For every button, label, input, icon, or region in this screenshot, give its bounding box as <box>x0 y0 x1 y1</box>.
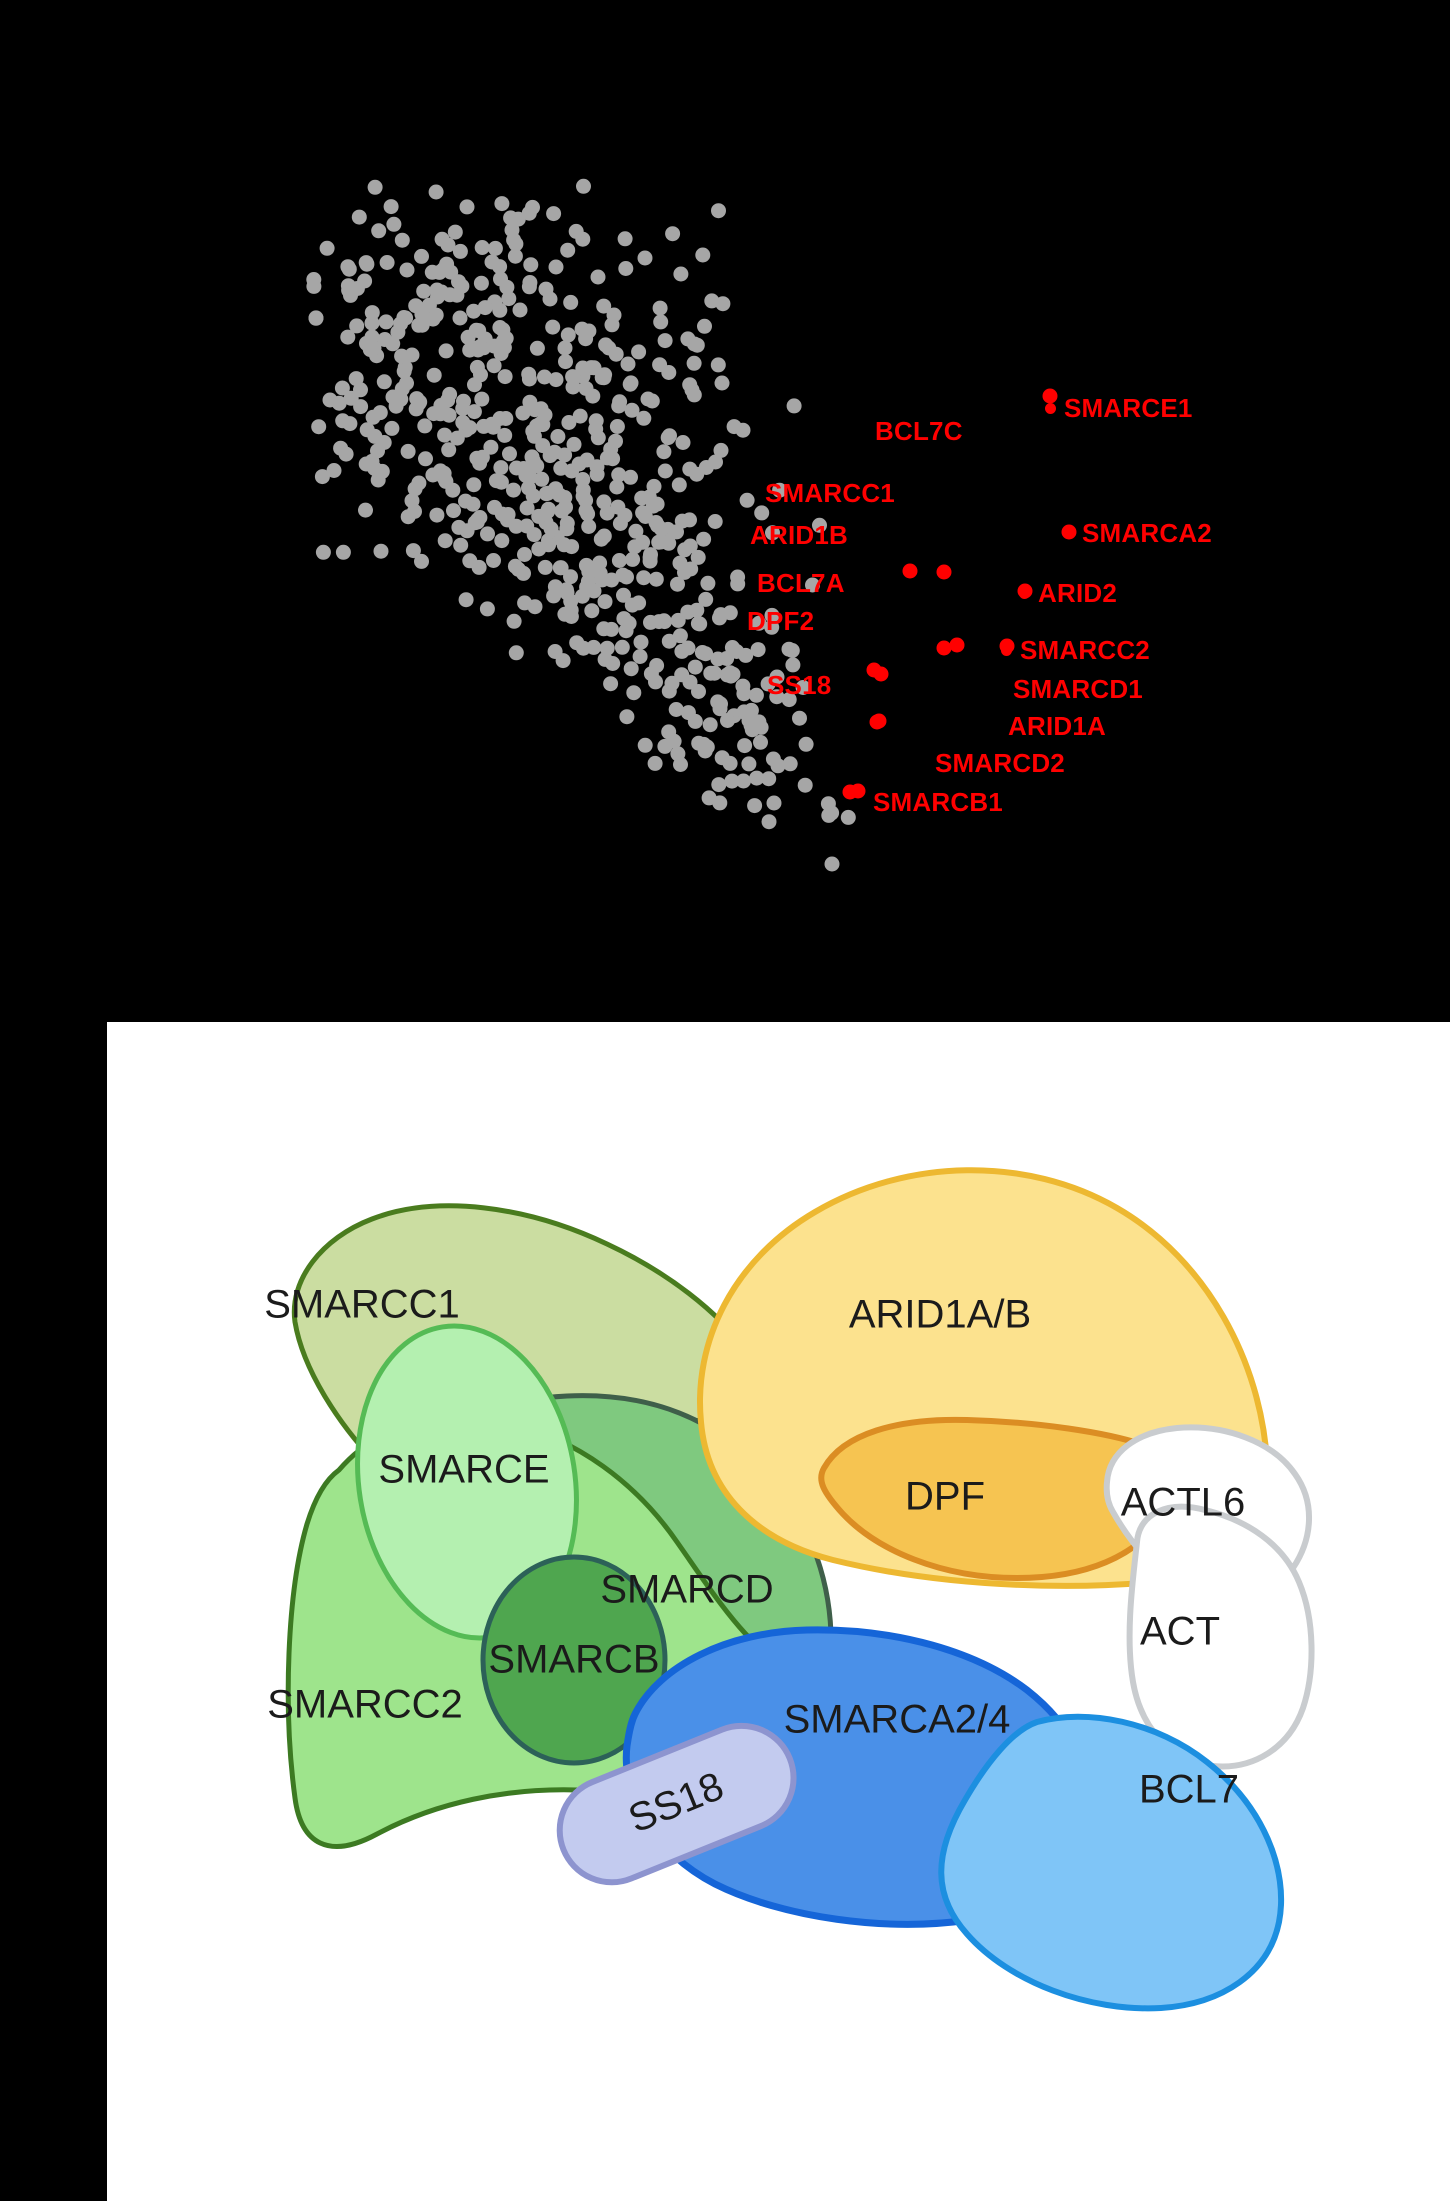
scatter-point <box>607 308 622 323</box>
scatter-point <box>597 370 612 385</box>
scatter-point <box>558 354 573 369</box>
scatter-point <box>598 337 613 352</box>
scatter-label-smarcd1: SMARCD1 <box>1013 676 1143 702</box>
scatter-point <box>625 552 640 567</box>
subunit-label-actl6: ACTL6 <box>1121 1481 1246 1525</box>
scatter-point <box>466 477 481 492</box>
scatter-point <box>316 545 331 560</box>
scatter-point <box>735 679 750 694</box>
scatter-label-text: BCL7A <box>757 568 845 598</box>
scatter-point <box>799 737 814 752</box>
scatter-point <box>333 441 348 456</box>
scatter-point <box>596 529 611 544</box>
scatter-point <box>626 685 641 700</box>
scatter-label-dot-icon <box>1001 645 1012 656</box>
baf-complex-svg: SMARCC1 SMARCE SMARCD SMARCC2 SMARCB ARI… <box>107 1022 1450 2201</box>
scatter-point <box>563 594 578 609</box>
scatter-point <box>474 276 489 291</box>
scatter-point <box>522 275 537 290</box>
scatter-point <box>495 507 510 522</box>
scatter-point <box>683 675 698 690</box>
scatter-point <box>497 428 512 443</box>
scatter-point <box>654 522 669 537</box>
scatter-point <box>707 666 722 681</box>
scatter-point <box>767 796 782 811</box>
scatter-point <box>563 569 578 584</box>
scatter-point <box>711 777 726 792</box>
scatter-point <box>414 554 429 569</box>
scatter-point <box>530 341 545 356</box>
scatter-point <box>610 500 625 515</box>
scatter-point <box>695 248 710 263</box>
scatter-point <box>408 298 423 313</box>
scatter-point <box>459 592 474 607</box>
scatter-point <box>513 303 528 318</box>
scatter-point <box>754 720 769 735</box>
scatter-point <box>429 185 444 200</box>
scatter-point <box>437 428 452 443</box>
scatter-point <box>341 278 356 293</box>
scatter-point <box>560 243 575 258</box>
scatter-point <box>352 210 367 225</box>
subunit-label-smarcc2: SMARCC2 <box>267 1683 463 1727</box>
scatter-point <box>400 263 415 278</box>
scatter-point <box>528 599 543 614</box>
scatter-point <box>720 713 735 728</box>
scatter-point <box>715 376 730 391</box>
scatter-point <box>638 509 653 524</box>
scatter-point <box>529 458 544 473</box>
scatter-point <box>711 203 726 218</box>
scatter-point <box>580 453 595 468</box>
scatter-point <box>798 778 813 793</box>
subunit-label-smarce: SMARCE <box>378 1448 549 1492</box>
scatter-point <box>558 500 573 515</box>
scatter-label-arid2: ARID2 <box>1019 580 1117 606</box>
scatter-point <box>674 644 689 659</box>
scatter-point <box>493 460 508 475</box>
scatter-point <box>522 206 537 221</box>
scatter-point <box>546 206 561 221</box>
scatter-point <box>685 383 700 398</box>
scatter-point <box>543 448 558 463</box>
scatter-point <box>624 661 639 676</box>
scatter-point <box>448 225 463 240</box>
scatter-point <box>556 653 571 668</box>
scatter-point <box>470 513 485 528</box>
scatter-point <box>438 533 453 548</box>
scatter-point <box>576 179 591 194</box>
scatter-point <box>342 262 357 277</box>
subunit-label-act: ACT <box>1140 1610 1220 1654</box>
scatter-point <box>467 404 482 419</box>
scatter-point <box>525 424 540 439</box>
scatter-panel: SMARCE1BCL7CSMARCC1SMARCA2ARID1BARID2BCL… <box>0 0 1450 1022</box>
scatter-point <box>563 295 578 310</box>
scatter-point <box>613 516 628 531</box>
subunit-label-smarcb: SMARCB <box>488 1638 659 1682</box>
scatter-point <box>618 261 633 276</box>
scatter-point <box>494 475 509 490</box>
scatter-highlight-point-smarcc1[interactable] <box>937 565 952 580</box>
scatter-point <box>741 756 756 771</box>
scatter-point <box>662 684 677 699</box>
scatter-point <box>509 645 524 660</box>
scatter-label-text: SMARCA2 <box>1082 518 1212 548</box>
scatter-point <box>575 322 590 337</box>
scatter-point <box>603 676 618 691</box>
scatter-point <box>618 231 633 246</box>
scatter-point <box>787 398 802 413</box>
scatter-point <box>488 241 503 256</box>
scatter-point <box>543 292 558 307</box>
scatter-point <box>689 603 704 618</box>
scatter-label-text: SMARCD1 <box>1013 674 1143 704</box>
scatter-point <box>596 621 611 636</box>
scatter-point <box>471 343 486 358</box>
scatter-point <box>487 358 502 373</box>
scatter-label-smarcc2: SMARCC2 <box>1001 637 1150 663</box>
scatter-point <box>723 669 738 684</box>
scatter-point <box>699 460 714 475</box>
scatter-point <box>493 411 508 426</box>
scatter-point <box>703 717 718 732</box>
scatter-point <box>821 796 836 811</box>
scatter-point <box>561 327 576 342</box>
scatter-point <box>335 413 350 428</box>
scatter-point <box>365 454 380 469</box>
scatter-point <box>407 504 422 519</box>
scatter-point <box>534 472 549 487</box>
scatter-point <box>411 318 426 333</box>
scatter-point <box>418 451 433 466</box>
scatter-point <box>460 199 475 214</box>
scatter-point <box>662 428 677 443</box>
scatter-point <box>474 392 489 407</box>
scatter-point <box>523 257 538 272</box>
scatter-highlight-point-bcl7a[interactable] <box>950 638 965 653</box>
scatter-label-text: DPF2 <box>747 606 814 636</box>
scatter-point <box>446 503 461 518</box>
scatter-label-dot-icon <box>1019 588 1030 599</box>
scatter-point <box>658 464 673 479</box>
scatter-point <box>439 343 454 358</box>
scatter-point <box>825 857 840 872</box>
scatter-highlight-point-arid1a[interactable] <box>870 715 885 730</box>
scatter-point <box>590 467 605 482</box>
scatter-point <box>384 199 399 214</box>
subunit-label-smarca24: SMARCA2/4 <box>784 1698 1011 1742</box>
scatter-point <box>557 537 572 552</box>
scatter-point <box>643 554 658 569</box>
scatter-point <box>454 279 469 294</box>
scatter-point <box>336 545 351 560</box>
scatter-label-arid1b: ARID1B <box>750 522 848 548</box>
scatter-point <box>417 418 432 433</box>
scatter-point <box>569 224 584 239</box>
scatter-point <box>615 640 630 655</box>
scatter-point <box>658 333 673 348</box>
scatter-label-ss18: SS18 <box>767 672 831 698</box>
scatter-point <box>441 238 456 253</box>
scatter-highlight-point-ss18[interactable] <box>867 663 882 678</box>
scatter-point <box>612 553 627 568</box>
scatter-point <box>623 470 638 485</box>
scatter-point <box>631 344 646 359</box>
scatter-point <box>673 267 688 282</box>
scatter-label-dpf2: DPF2 <box>747 608 814 634</box>
scatter-point <box>696 532 711 547</box>
scatter-point <box>688 714 703 729</box>
scatter-point <box>408 481 423 496</box>
scatter-point <box>430 283 445 298</box>
scatter-point <box>651 535 666 550</box>
scatter-point <box>498 369 513 384</box>
scatter-point <box>456 394 471 409</box>
scatter-point <box>652 357 667 372</box>
scatter-point <box>672 477 687 492</box>
scatter-point <box>671 613 686 628</box>
scatter-point <box>478 300 493 315</box>
scatter-point <box>353 382 368 397</box>
scatter-point <box>507 614 522 629</box>
scatter-point <box>377 374 392 389</box>
scatter-point <box>673 556 688 571</box>
scatter-label-arid1a: ARID1A <box>1008 713 1106 739</box>
scatter-highlight-point-bcl7c[interactable] <box>903 564 918 579</box>
scatter-label-smarcd2: SMARCD2 <box>935 750 1065 776</box>
scatter-point <box>442 387 457 402</box>
scatter-point <box>579 580 594 595</box>
scatter-point <box>450 431 465 446</box>
subunit-label-dpf: DPF <box>905 1475 985 1519</box>
scatter-point <box>711 357 726 372</box>
scatter-point <box>501 291 516 306</box>
scatter-point <box>401 444 416 459</box>
scatter-label-text: SMARCB1 <box>873 787 1003 817</box>
scatter-point <box>517 547 532 562</box>
scatter-point <box>747 798 762 813</box>
scatter-label-smarce1: SMARCE1 <box>1045 395 1193 421</box>
scatter-point <box>624 375 639 390</box>
scatter-point <box>621 357 636 372</box>
scatter-label-text: BCL7C <box>875 416 963 446</box>
scatter-point <box>690 338 705 353</box>
scatter-point <box>615 568 630 583</box>
scatter-point <box>591 270 606 285</box>
scatter-point <box>669 702 684 717</box>
scatter-point <box>558 341 573 356</box>
scatter-point <box>549 372 564 387</box>
scatter-point <box>483 440 498 455</box>
scatter-point <box>600 641 615 656</box>
scatter-highlight-point-smarcb1[interactable] <box>843 785 858 800</box>
scatter-point <box>527 402 542 417</box>
scatter-point <box>480 601 495 616</box>
scatter-point <box>412 395 427 410</box>
scatter-point <box>715 296 730 311</box>
scatter-point <box>609 480 624 495</box>
scatter-point <box>365 316 380 331</box>
scatter-point <box>653 301 668 316</box>
scatter-point <box>398 311 413 326</box>
scatter-point <box>608 434 623 449</box>
scatter-point <box>579 558 594 573</box>
scatter-point <box>519 519 534 534</box>
figure-root: SMARCE1BCL7CSMARCC1SMARCA2ARID1BARID2BCL… <box>0 0 1450 2201</box>
scatter-point <box>662 634 677 649</box>
scatter-point <box>358 503 373 518</box>
scatter-point <box>619 709 634 724</box>
scatter-point <box>656 444 671 459</box>
scatter-point <box>462 420 477 435</box>
scatter-point <box>494 533 509 548</box>
scatter-point <box>390 325 405 340</box>
scatter-point <box>610 419 625 434</box>
scatter-point <box>723 756 738 771</box>
scatter-point <box>619 623 634 638</box>
scatter-point <box>673 757 688 772</box>
scatter-point <box>349 318 364 333</box>
scatter-label-bcl7a: BCL7A <box>757 570 845 596</box>
scatter-point <box>476 419 491 434</box>
scatter-point <box>643 615 658 630</box>
scatter-point <box>486 553 501 568</box>
scatter-point <box>549 260 564 275</box>
scatter-highlight-point-arid1b[interactable] <box>937 641 952 656</box>
scatter-point <box>384 421 399 436</box>
scatter-point <box>323 393 338 408</box>
scatter-point <box>437 466 452 481</box>
scatter-point <box>359 257 374 272</box>
scatter-point <box>414 249 429 264</box>
scatter-point <box>695 645 710 660</box>
scatter-label-text: ARID2 <box>1038 578 1117 608</box>
scatter-point <box>636 570 651 585</box>
scatter-point <box>753 735 768 750</box>
scatter-point <box>670 577 685 592</box>
scatter-point <box>584 603 599 618</box>
scatter-label-text: SS18 <box>767 670 831 700</box>
scatter-point <box>485 255 500 270</box>
scatter-label-text: ARID1A <box>1008 711 1106 741</box>
scatter-point <box>611 399 626 414</box>
scatter-point <box>471 323 486 338</box>
scatter-point <box>373 405 388 420</box>
scatter-point <box>644 666 659 681</box>
subunit-label-smarcc1: SMARCC1 <box>264 1283 460 1327</box>
scatter-point <box>573 409 588 424</box>
scatter-point <box>633 649 648 664</box>
scatter-point <box>353 399 368 414</box>
scatter-point <box>676 435 691 450</box>
scatter-point <box>634 635 649 650</box>
scatter-point <box>567 437 582 452</box>
scatter-point <box>531 542 546 557</box>
scatter-label-dot-icon <box>1045 403 1056 414</box>
scatter-point <box>737 738 752 753</box>
scatter-point <box>469 451 484 466</box>
scatter-point <box>682 512 697 527</box>
scatter-point <box>740 493 755 508</box>
scatter-point <box>306 272 321 287</box>
scatter-point <box>692 616 707 631</box>
scatter-point <box>575 472 590 487</box>
scatter-point <box>749 688 764 703</box>
scatter-point <box>416 284 431 299</box>
baf-complex-panel: SMARCC1 SMARCE SMARCD SMARCC2 SMARCB ARI… <box>107 1022 1450 2201</box>
scatter-point <box>648 756 663 771</box>
scatter-point <box>616 588 631 603</box>
scatter-point <box>386 217 401 232</box>
scatter-point <box>379 314 394 329</box>
scatter-point <box>657 739 672 754</box>
scatter-label-text: SMARCC1 <box>765 478 895 508</box>
scatter-label-dot-icon <box>1063 528 1074 539</box>
scatter-plot-svg <box>0 0 1450 1022</box>
scatter-point <box>712 795 727 810</box>
scatter-label-smarcb1: SMARCB1 <box>873 789 1003 815</box>
scatter-point <box>453 538 468 553</box>
scatter-label-text: SMARCC2 <box>1020 635 1150 665</box>
scatter-label-text: ARID1B <box>750 520 848 550</box>
scatter-point <box>374 544 389 559</box>
scatter-point <box>708 514 723 529</box>
scatter-point <box>725 774 740 789</box>
scatter-point <box>502 446 517 461</box>
scatter-point <box>736 423 751 438</box>
scatter-point <box>657 613 672 628</box>
scatter-point <box>462 553 477 568</box>
scatter-point <box>683 539 698 554</box>
scatter-point <box>638 738 653 753</box>
scatter-point <box>710 694 725 709</box>
scatter-point <box>422 298 437 313</box>
scatter-point <box>516 566 531 581</box>
scatter-point <box>546 588 561 603</box>
scatter-point <box>443 265 458 280</box>
scatter-point <box>792 711 807 726</box>
subunit-label-arid1ab: ARID1A/B <box>849 1293 1031 1337</box>
scatter-point <box>473 367 488 382</box>
scatter-point <box>575 361 590 376</box>
scatter-point <box>588 422 603 437</box>
scatter-point <box>700 740 715 755</box>
scatter-point <box>480 526 495 541</box>
scatter-point <box>641 392 656 407</box>
scatter-point <box>368 180 383 195</box>
scatter-background <box>0 0 1450 1022</box>
scatter-label-text: SMARCE1 <box>1064 393 1193 423</box>
subunit-label-bcl7: BCL7 <box>1139 1768 1239 1812</box>
scatter-point <box>841 810 856 825</box>
scatter-point <box>598 594 613 609</box>
scatter-point <box>723 605 738 620</box>
scatter-point <box>389 399 404 414</box>
scatter-point <box>466 497 481 512</box>
scatter-point <box>380 255 395 270</box>
scatter-point <box>738 648 753 663</box>
scatter-point <box>327 463 342 478</box>
scatter-point <box>578 493 593 508</box>
scatter-point <box>688 660 703 675</box>
scatter-label-text: SMARCD2 <box>935 748 1065 778</box>
scatter-point <box>649 572 664 587</box>
scatter-point <box>665 226 680 241</box>
scatter-point <box>749 771 764 786</box>
scatter-point <box>700 576 715 591</box>
scatter-point <box>638 251 653 266</box>
